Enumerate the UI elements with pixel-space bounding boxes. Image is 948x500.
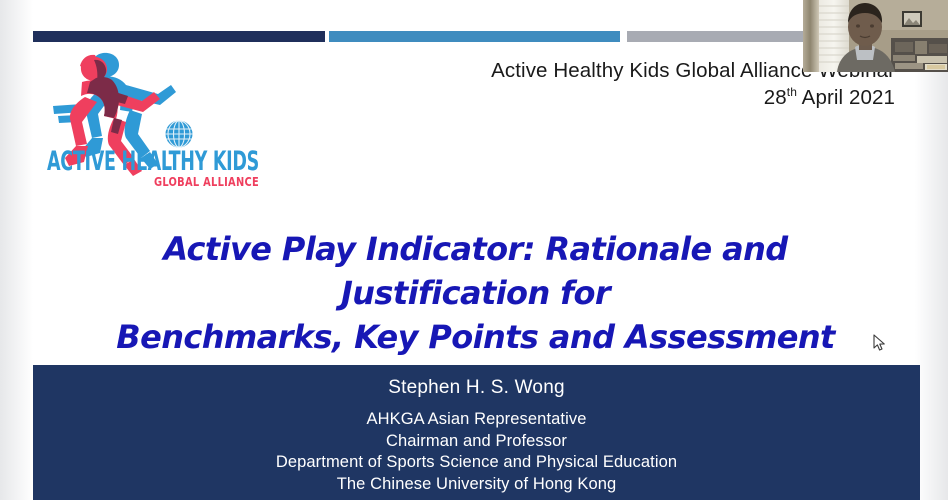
presentation-slide-view: Active Healthy Kids Global Alliance Webi… (0, 0, 948, 500)
mouse-pointer (873, 334, 887, 352)
decor-bar-navy (33, 31, 325, 42)
webinar-date-line: 28th April 2021 (380, 84, 895, 111)
speaker-affiliation-line: The Chinese University of Hong Kong (33, 474, 920, 496)
decor-bar-gray (627, 31, 832, 42)
speaker-affiliations: AHKGA Asian Representative Chairman and … (33, 409, 920, 495)
logo-wordmark: ACTIVE HEALTHY KIDS (47, 146, 259, 177)
speaker-affiliation-line: AHKGA Asian Representative (33, 409, 920, 431)
slide-main-title: Active Play Indicator: Rationale and Jus… (58, 227, 893, 359)
speaker-info-banner: Stephen H. S. Wong AHKGA Asian Represent… (33, 365, 920, 500)
speaker-affiliation-line: Department of Sports Science and Physica… (33, 452, 920, 474)
logo-subwordmark: GLOBAL ALLIANCE (154, 175, 259, 189)
speaker-name: Stephen H. S. Wong (33, 374, 920, 402)
slide-left-edge-shade (0, 0, 33, 500)
date-month-year: April 2021 (797, 86, 895, 109)
slide-title-line-1: Active Play Indicator: Rationale and Jus… (58, 227, 893, 315)
date-ordinal-suffix: th (787, 85, 797, 99)
speaker-affiliation-line: Chairman and Professor (33, 431, 920, 453)
date-number: 28 (764, 86, 787, 109)
slide-title-line-2: Benchmarks, Key Points and Assessment (58, 315, 893, 359)
globe-icon (166, 121, 193, 148)
presenter-webcam-feed[interactable] (803, 0, 948, 72)
ahkga-logo: ACTIVE HEALTHY KIDS GLOBAL ALLIANCE (42, 52, 274, 190)
decor-bar-blue (329, 31, 620, 42)
